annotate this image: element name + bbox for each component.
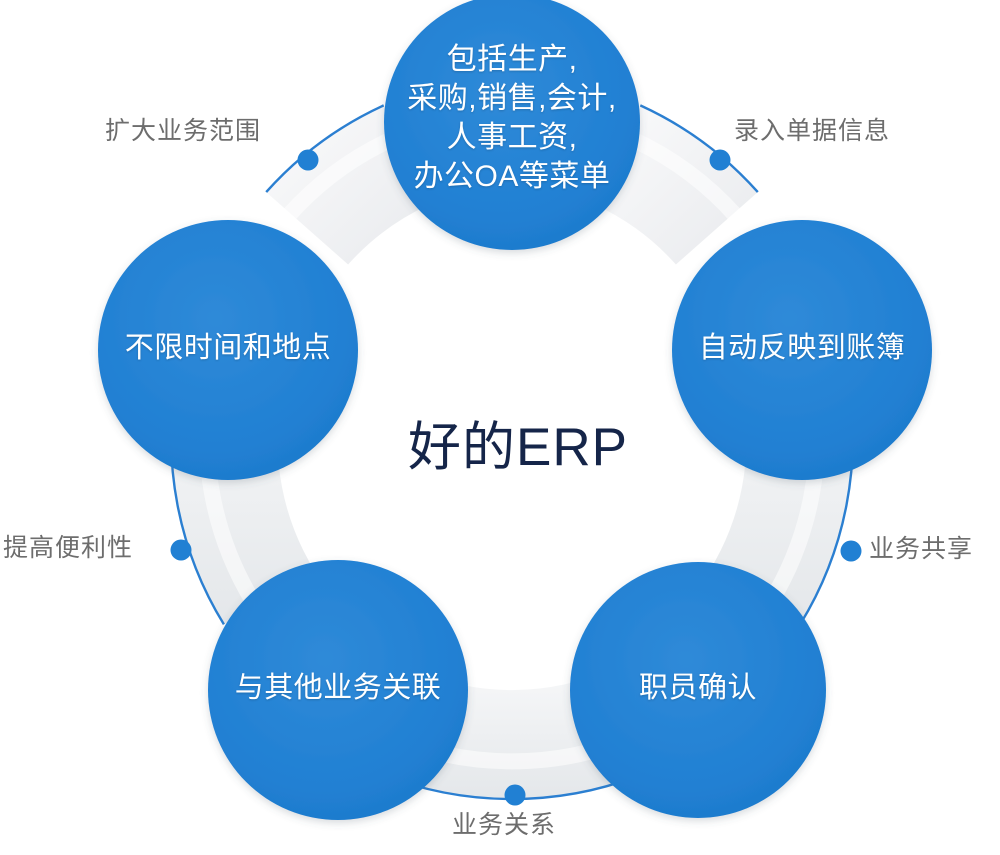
- node-circle-bottom-left[interactable]: [208, 560, 468, 820]
- connector-dot-business-share[interactable]: [841, 541, 862, 562]
- diagram-center-title: 好的ERP: [408, 405, 628, 481]
- connector-label-enter-document: 录入单据信息: [734, 118, 890, 146]
- node-circle-left[interactable]: [98, 220, 358, 480]
- connector-dot-improve-convenience[interactable]: [171, 540, 192, 561]
- erp-cycle-diagram: 包括生产, 采购,销售,会计, 人事工资, 办公OA等菜单 自动反映到账簿 职员…: [0, 0, 1000, 855]
- node-circle-top[interactable]: [384, 0, 640, 250]
- connector-label-improve-convenience: 提高便利性: [3, 535, 133, 563]
- connector-dot-business-relation[interactable]: [505, 785, 526, 806]
- node-circle-right[interactable]: [672, 220, 932, 480]
- connector-label-expand-business: 扩大业务范围: [105, 118, 261, 146]
- connector-label-business-relation: 业务关系: [452, 812, 556, 840]
- connector-label-business-share: 业务共享: [869, 536, 973, 564]
- node-circle-bottom-right[interactable]: [570, 562, 826, 818]
- connector-dot-enter-document[interactable]: [710, 150, 731, 171]
- connector-dot-expand-business[interactable]: [298, 150, 319, 171]
